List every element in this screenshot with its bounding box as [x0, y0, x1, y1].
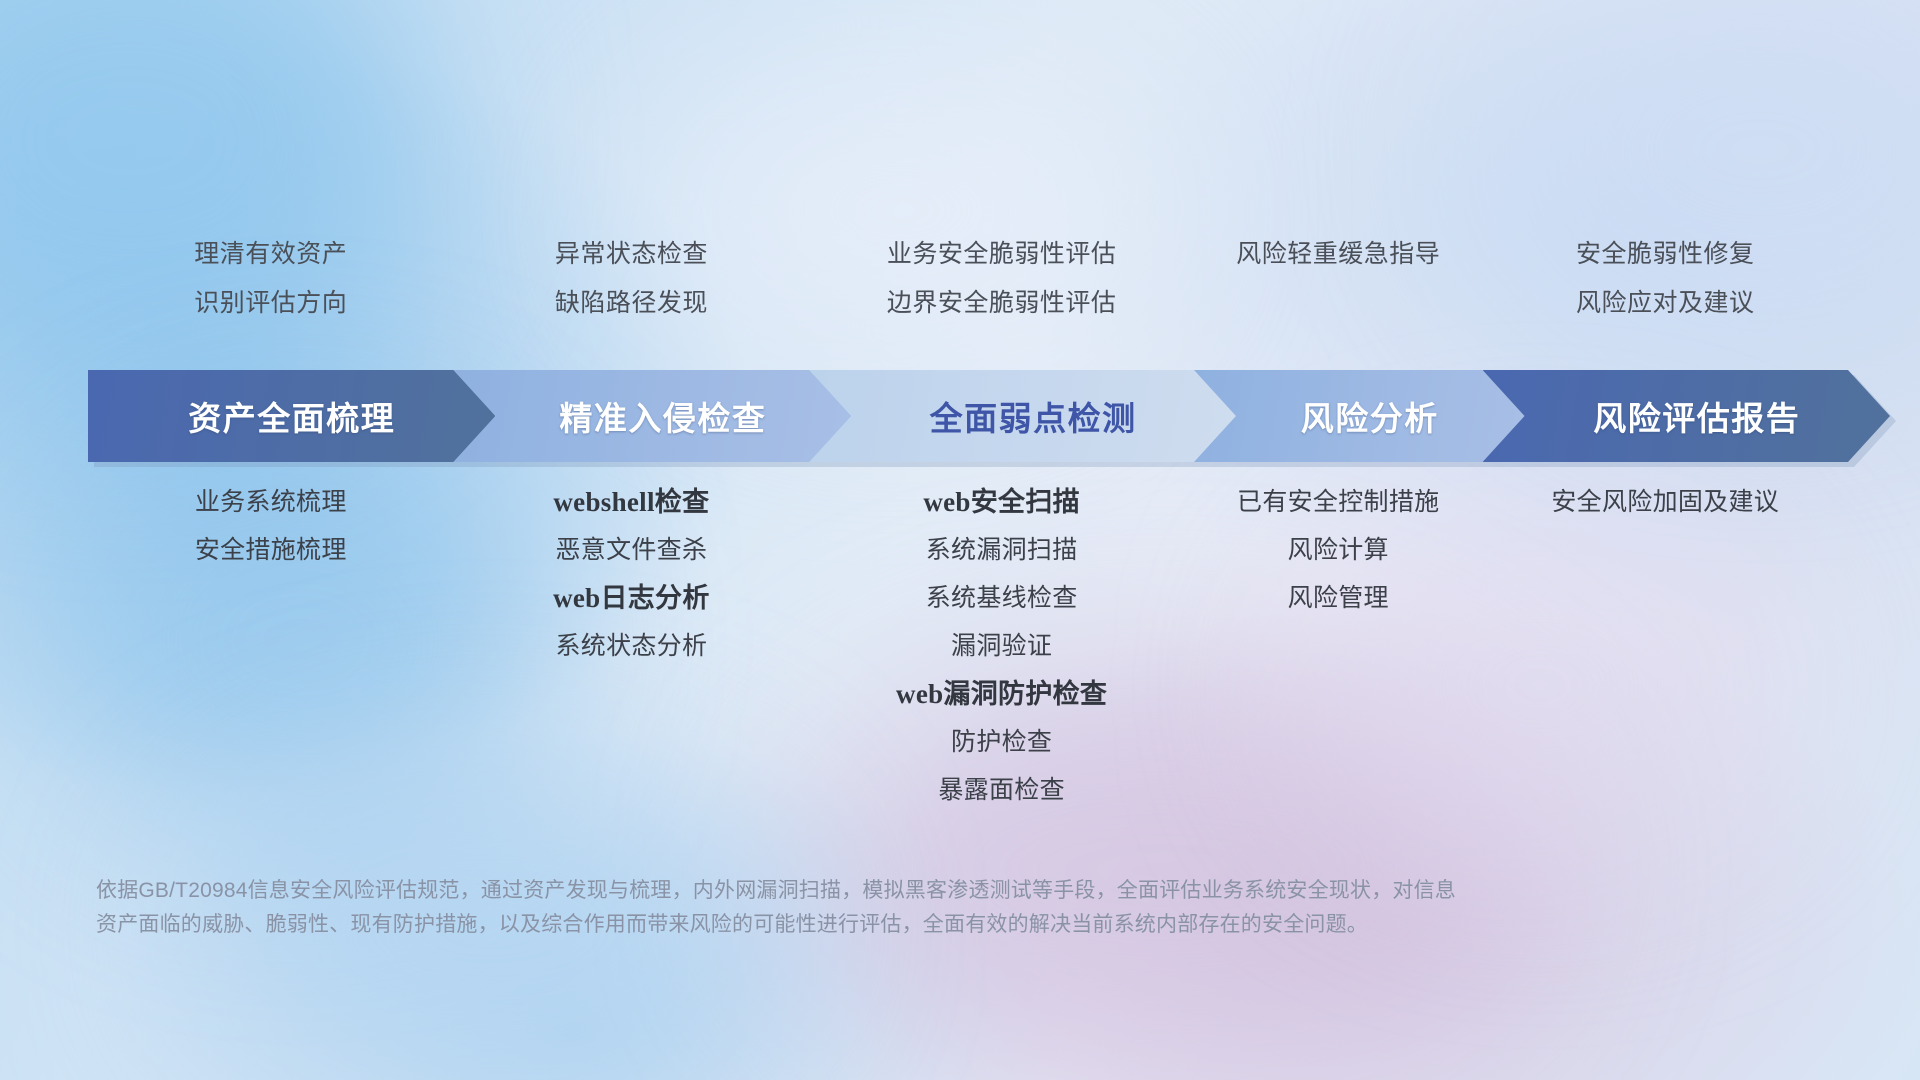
detail-list-weakness-detection: web安全扫描系统漏洞扫描系统基线检查漏洞验证web漏洞防护检查防护检查暴露面检… [809, 478, 1194, 814]
detail-item: 风险管理 [1288, 574, 1389, 622]
detail-item: web日志分析 [553, 574, 710, 622]
detail-item: 暴露面检查 [938, 766, 1065, 814]
top-label: 业务安全脆弱性评估 [887, 230, 1117, 279]
process-step-intrusion-check[interactable]: 精准入侵检查 [453, 370, 851, 462]
process-step-title: 风险分析 [1301, 392, 1439, 440]
detail-item: 安全措施梳理 [195, 526, 347, 574]
top-labels-asset-inventory: 理清有效资产识别评估方向 [88, 230, 453, 340]
process-chevron-band: 资产全面梳理精准入侵检查全面弱点检测风险分析风险评估报告 [88, 370, 1848, 462]
footer-description: 依据GB/T20984信息安全风险评估规范，通过资产发现与梳理，内外网漏洞扫描，… [96, 874, 1736, 942]
top-label: 风险应对及建议 [1576, 279, 1755, 328]
detail-list-asset-inventory: 业务系统梳理安全措施梳理 [88, 478, 453, 814]
detail-item: 风险计算 [1288, 526, 1389, 574]
detail-list-risk-report: 安全风险加固及建议 [1483, 478, 1848, 814]
process-step-title: 全面弱点检测 [930, 392, 1137, 440]
process-step-title: 资产全面梳理 [188, 392, 395, 440]
detail-list-intrusion-check: webshell检查恶意文件查杀web日志分析系统状态分析 [453, 478, 809, 814]
detail-item: 防护检查 [951, 718, 1052, 766]
detail-item: 漏洞验证 [951, 622, 1052, 670]
detail-list-risk-analysis: 已有安全控制措施风险计算风险管理 [1194, 478, 1483, 814]
process-step-asset-inventory[interactable]: 资产全面梳理 [88, 370, 495, 462]
background-blob [0, 0, 440, 400]
detail-item: web漏洞防护检查 [896, 670, 1107, 718]
top-labels-risk-report: 安全脆弱性修复风险应对及建议 [1483, 230, 1848, 340]
top-label: 安全脆弱性修复 [1576, 230, 1755, 279]
detail-item: 已有安全控制措施 [1237, 478, 1439, 526]
top-label: 理清有效资产 [194, 230, 347, 279]
top-labels-weakness-detection: 业务安全脆弱性评估边界安全脆弱性评估 [809, 230, 1194, 340]
top-labels-row: 理清有效资产识别评估方向异常状态检查缺陷路径发现业务安全脆弱性评估边界安全脆弱性… [88, 230, 1848, 340]
top-label: 边界安全脆弱性评估 [887, 279, 1117, 328]
process-step-title: 风险评估报告 [1593, 392, 1800, 440]
footer-line-1: 依据GB/T20984信息安全风险评估规范，通过资产发现与梳理，内外网漏洞扫描，… [96, 874, 1736, 908]
process-step-title: 精准入侵检查 [559, 392, 766, 440]
process-step-risk-analysis[interactable]: 风险分析 [1194, 370, 1525, 462]
top-label: 风险轻重缓急指导 [1236, 230, 1440, 279]
detail-item: 系统漏洞扫描 [926, 526, 1078, 574]
detail-item: webshell检查 [553, 478, 709, 526]
slide-canvas: 理清有效资产识别评估方向异常状态检查缺陷路径发现业务安全脆弱性评估边界安全脆弱性… [0, 0, 1920, 1080]
bottom-detail-row: 业务系统梳理安全措施梳理webshell检查恶意文件查杀web日志分析系统状态分… [88, 478, 1848, 814]
detail-item: 安全风险加固及建议 [1551, 478, 1779, 526]
footer-line-2: 资产面临的威胁、脆弱性、现有防护措施，以及综合作用而带来风险的可能性进行评估，全… [96, 908, 1736, 942]
detail-item: 系统状态分析 [555, 622, 707, 670]
detail-item: 系统基线检查 [926, 574, 1078, 622]
process-step-risk-report[interactable]: 风险评估报告 [1483, 370, 1890, 462]
detail-item: web安全扫描 [923, 478, 1080, 526]
process-step-weakness-detection[interactable]: 全面弱点检测 [809, 370, 1236, 462]
detail-item: 恶意文件查杀 [555, 526, 707, 574]
detail-item: 业务系统梳理 [195, 478, 347, 526]
top-labels-intrusion-check: 异常状态检查缺陷路径发现 [453, 230, 809, 340]
top-label: 识别评估方向 [194, 279, 347, 328]
top-labels-risk-analysis: 风险轻重缓急指导 [1194, 230, 1483, 340]
top-label: 缺陷路径发现 [555, 279, 708, 328]
top-label: 异常状态检查 [555, 230, 708, 279]
